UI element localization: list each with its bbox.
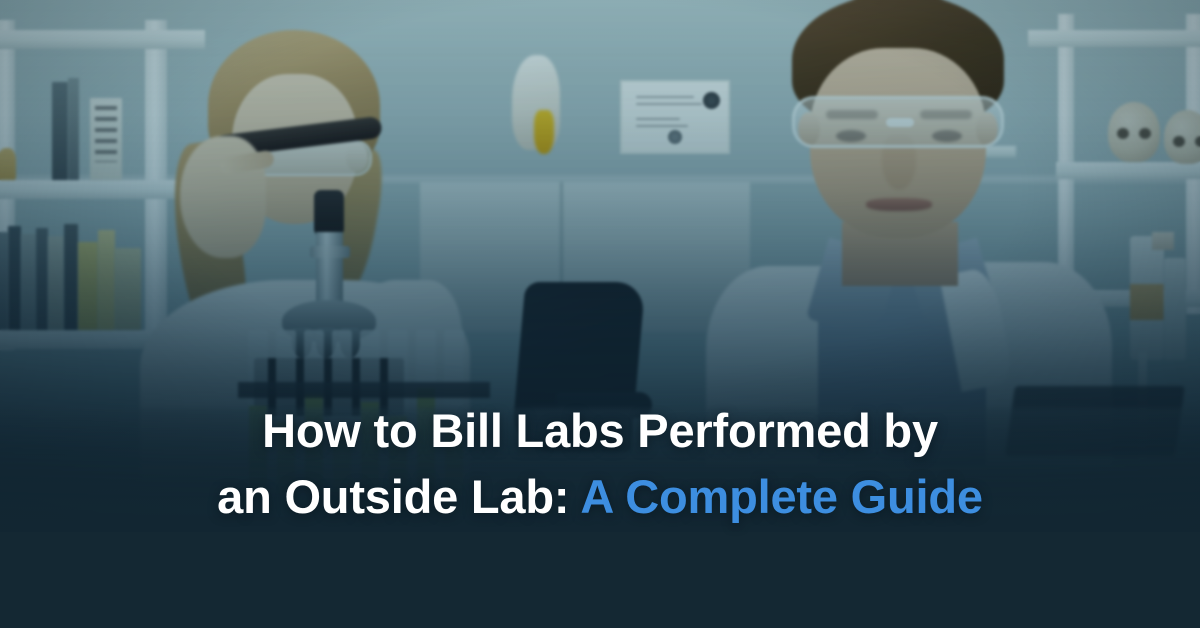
banner-title-line-2: an Outside Lab: A Complete Guide (60, 464, 1140, 530)
overlay-bottom-solid (0, 532, 1200, 628)
title-line-2-accent-text: A Complete Guide (580, 470, 982, 523)
title-line-1-text: How to Bill Labs Performed by (262, 404, 938, 457)
banner-title-block: How to Bill Labs Performed by an Outside… (0, 398, 1200, 530)
article-hero-banner: How to Bill Labs Performed by an Outside… (0, 0, 1200, 628)
title-line-2-plain-text: an Outside Lab: (217, 470, 580, 523)
banner-title-line-1: How to Bill Labs Performed by (60, 398, 1140, 464)
